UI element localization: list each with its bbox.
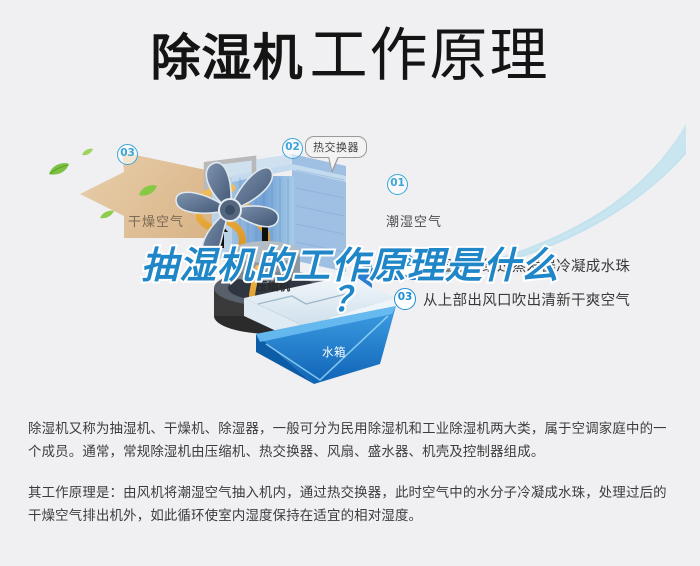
leaf-icon [82, 148, 93, 156]
list-item: 03 从上部出风口吹出清新干爽空气 [394, 282, 694, 316]
steps-list: 02 潮湿空气经过蒸发器冷凝成水珠 03 从上部出风口吹出清新干爽空气 [394, 248, 694, 316]
page-title: 除湿机工作原理 [0, 26, 700, 84]
infographic-page: 除湿机工作原理 干燥空气 [0, 0, 700, 566]
paragraph: 其工作原理是：由风机将潮湿空气抽入机内，通过热交换器，此时空气中的水分子冷凝成水… [28, 482, 676, 528]
diagram-badge-02: 02 [282, 138, 303, 159]
leaf-icon [138, 184, 158, 197]
fan-blades-icon [168, 158, 284, 262]
article-body: 除湿机又称为抽湿机、干燥机、除湿器，一般可分为民用除湿机和工业除湿机两大类，属于… [28, 418, 676, 546]
leaf-icon [100, 210, 114, 219]
list-item: 02 潮湿空气经过蒸发器冷凝成水珠 [394, 248, 694, 282]
heat-exchanger-callout: 热交换器 [305, 136, 367, 158]
compressor-label: 压缩机 [256, 278, 291, 294]
paragraph: 除湿机又称为抽湿机、干燥机、除湿器，一般可分为民用除湿机和工业除湿机两大类，属于… [28, 418, 676, 464]
page-title-part-b: 工作原理 [309, 21, 549, 89]
leaf-icon [48, 162, 70, 176]
bullet-text: 从上部出风口吹出清新干爽空气 [423, 289, 630, 310]
bullet-text: 潮湿空气经过蒸发器冷凝成水珠 [423, 255, 630, 276]
water-tank-label: 水箱 [322, 344, 346, 360]
diagram-badge-03: 03 [117, 144, 138, 165]
page-title-part-a: 除湿机 [150, 29, 303, 87]
humid-air-label: 潮湿空气 [386, 211, 442, 230]
diagram-badge-01: 01 [387, 174, 408, 195]
bullet-number: 02 [394, 254, 416, 276]
bullet-number: 03 [394, 288, 416, 310]
